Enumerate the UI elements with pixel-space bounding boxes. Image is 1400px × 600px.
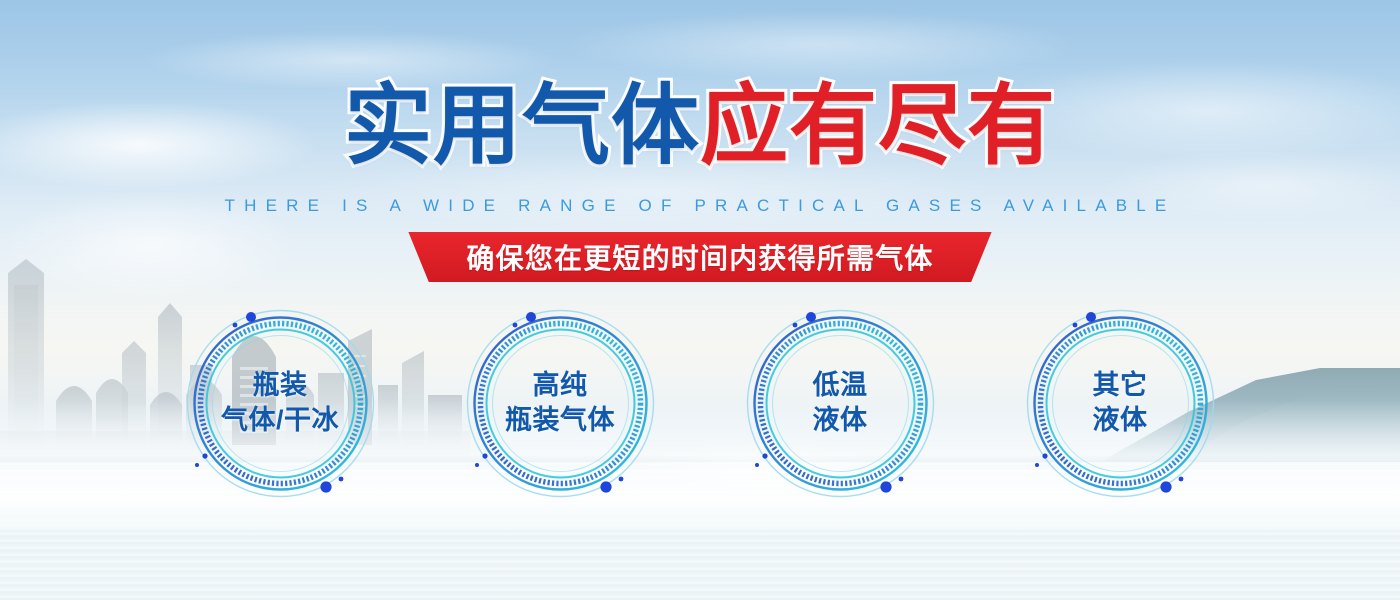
category-label-line2: 瓶装气体 (505, 403, 615, 438)
headline-red: 应有尽有 (700, 76, 1056, 175)
category-label-line2: 气体/干冰 (221, 403, 339, 438)
ribbon-shape: 确保您在更短的时间内获得所需气体 (408, 232, 991, 282)
ribbon-text: 确保您在更短的时间内获得所需气体 (466, 237, 933, 277)
category-label: 低温 液体 (813, 368, 868, 438)
hero-banner: 实用气体应有尽有 THERE IS A WIDE RANGE OF PRACTI… (0, 0, 1400, 600)
category-label: 其它 液体 (1093, 368, 1148, 438)
subtitle: THERE IS A WIDE RANGE OF PRACTICAL GASES… (0, 196, 1400, 216)
category-label-line2: 液体 (1093, 403, 1148, 438)
category-label: 高纯 瓶装气体 (505, 368, 615, 438)
category-label-line2: 液体 (813, 403, 868, 438)
headline-blue: 实用气体 (344, 76, 700, 175)
category-label-line1: 其它 (1093, 368, 1148, 403)
category-label-line1: 瓶装 (221, 368, 339, 403)
category-circle-other-liquid[interactable]: 其它 液体 (1023, 305, 1218, 502)
ribbon: 确保您在更短的时间内获得所需气体 (0, 231, 1400, 283)
category-circle-high-purity-bottled-gas[interactable]: 高纯 瓶装气体 (463, 305, 658, 502)
category-label: 瓶装 气体/干冰 (221, 368, 339, 438)
category-circle-cryogenic-liquid[interactable]: 低温 液体 (743, 305, 938, 502)
cloud-decoration (560, 10, 1080, 80)
category-circle-row: 瓶装 气体/干冰 高纯 瓶装气体 (0, 303, 1400, 503)
page-title: 实用气体应有尽有 (0, 78, 1400, 174)
category-circle-bottled-gas-dry-ice[interactable]: 瓶装 气体/干冰 (183, 305, 378, 502)
category-label-line1: 低温 (813, 368, 868, 403)
category-label-line1: 高纯 (505, 368, 615, 403)
